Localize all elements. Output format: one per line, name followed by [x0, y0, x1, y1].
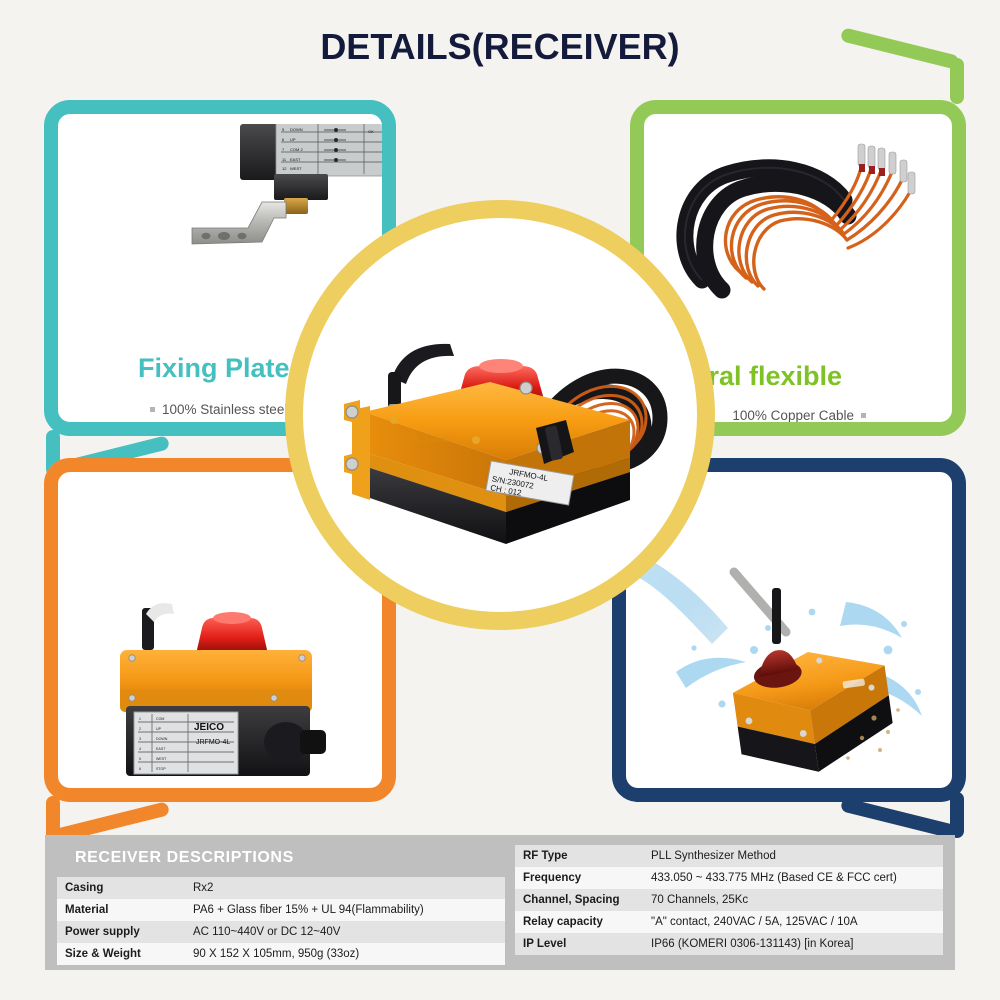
svg-text:2: 2 — [139, 727, 141, 731]
svg-text:COM: COM — [156, 717, 164, 721]
led-wire-diagram-photo: JEICO JRFMO-4L 123 456 COMUPDOWN EASTWES… — [76, 602, 376, 788]
spec-key: Power supply — [57, 921, 185, 943]
svg-text:WEST: WEST — [156, 757, 167, 761]
spec-table-left: Casing Rx2 Material PA6 + Glass fiber 15… — [57, 877, 505, 965]
svg-text:3: 3 — [139, 737, 141, 741]
svg-text:UP: UP — [290, 137, 296, 142]
spec-value: PLL Synthesizer Method — [643, 845, 943, 867]
spec-table-right: RF Type PLL Synthesizer Method Frequency… — [515, 845, 943, 955]
svg-text:WEST: WEST — [290, 166, 302, 171]
spec-value: AC 110~440V or DC 12~40V — [185, 921, 505, 943]
spec-value: Rx2 — [185, 877, 505, 899]
spec-key: IP Level — [515, 933, 643, 955]
product-detail-infographic: DETAILS(RECEIVER) — [0, 0, 1000, 1000]
table-row: Size & Weight 90 X 152 X 105mm, 950g (33… — [57, 943, 505, 965]
spec-value: IP66 (KOMERI 0306-131143) [in Korea] — [643, 933, 943, 955]
svg-text:JEICO: JEICO — [194, 722, 224, 733]
table-row: IP Level IP66 (KOMERI 0306-131143) [in K… — [515, 933, 943, 955]
svg-text:COM 2: COM 2 — [290, 147, 303, 152]
card-heading-fixing-plate: Fixing Plate — [138, 354, 290, 382]
svg-text:JEICO switch: JEICO switch — [408, 437, 450, 444]
svg-text:12: 12 — [282, 166, 287, 171]
spec-key: Size & Weight — [57, 943, 185, 965]
svg-text:EAST: EAST — [156, 747, 166, 751]
spec-value: 433.050 ~ 433.775 MHz (Based CE & FCC ce… — [643, 867, 943, 889]
flexible-cable-photo — [662, 130, 952, 310]
table-row: Channel, Spacing 70 Channels, 25Kc — [515, 889, 943, 911]
svg-text:5: 5 — [139, 757, 141, 761]
table-row: Power supply AC 110~440V or DC 12~40V — [57, 921, 505, 943]
table-row: Frequency 433.050 ~ 433.775 MHz (Based C… — [515, 867, 943, 889]
svg-text:1: 1 — [139, 717, 141, 721]
svg-text:DOWN: DOWN — [290, 127, 303, 132]
svg-text:STOP: STOP — [156, 767, 166, 771]
spec-key: Relay capacity — [515, 911, 643, 933]
spec-key: Channel, Spacing — [515, 889, 643, 911]
table-row: Relay capacity "A" contact, 240VAC / 5A,… — [515, 911, 943, 933]
table-row: RF Type PLL Synthesizer Method — [515, 845, 943, 867]
svg-text:UP: UP — [156, 727, 162, 731]
spec-key: RF Type — [515, 845, 643, 867]
spec-key: Material — [57, 899, 185, 921]
bubble-tail-flexible-cable — [922, 56, 966, 104]
receiver-descriptions-panel: RECEIVER DESCRIPTIONS Casing Rx2 Materia… — [45, 835, 955, 970]
bullet-marker-icon — [861, 413, 866, 418]
bullet-text: 100% Stainless steel — [162, 402, 287, 417]
svg-text:DOWN: DOWN — [156, 737, 168, 741]
bullet-marker-icon — [150, 407, 155, 412]
svg-text:JRFMO-4L: JRFMO-4L — [196, 739, 230, 746]
receiver-product-photo: JRFMO-4L S/N:230072 CH : 012 JEICO switc… — [330, 300, 680, 550]
card-bullets-flexible-cable: 100% Copper Cable U-Shape Terminal Numbe… — [706, 406, 866, 422]
svg-text:4: 4 — [139, 747, 141, 751]
table-row: Material PA6 + Glass fiber 15% + UL 94(F… — [57, 899, 505, 921]
water-dust-photo — [636, 532, 952, 780]
svg-text:6: 6 — [139, 767, 141, 771]
spec-value: 90 X 152 X 105mm, 950g (33oz) — [185, 943, 505, 965]
spec-key: Frequency — [515, 867, 643, 889]
spec-panel-title: RECEIVER DESCRIPTIONS — [75, 849, 294, 867]
spec-key: Casing — [57, 877, 185, 899]
spec-value: 70 Channels, 25Kc — [643, 889, 943, 911]
spec-value: "A" contact, 240VAC / 5A, 125VAC / 10A — [643, 911, 943, 933]
svg-text:EAST: EAST — [290, 157, 301, 162]
spec-value: PA6 + Glass fiber 15% + UL 94(Flammabili… — [185, 899, 505, 921]
table-row: Casing Rx2 — [57, 877, 505, 899]
bullet-text: 100% Copper Cable — [732, 408, 854, 422]
svg-text:OK: OK — [368, 129, 374, 134]
